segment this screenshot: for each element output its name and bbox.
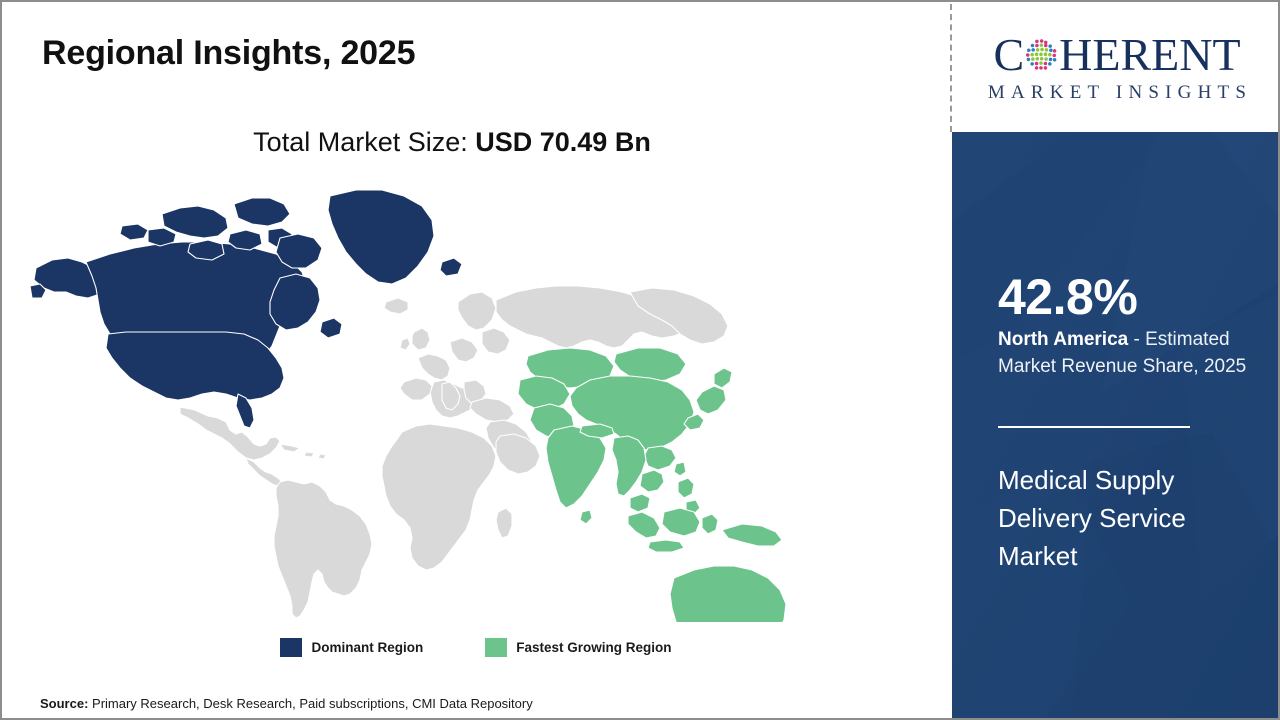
share-description: North America - Estimated Market Revenue… [998, 327, 1266, 381]
legend-swatch-dominant [280, 638, 302, 657]
legend-label-fastest-growing: Fastest Growing Region [516, 640, 671, 655]
stats-content: 42.8% North America - Estimated Market R… [952, 132, 1280, 720]
share-percentage: 42.8% [998, 272, 1137, 322]
dot-globe-icon [1024, 38, 1058, 72]
world-map-container [30, 182, 850, 622]
map-region-asia-pacific [518, 348, 828, 622]
source-note: Source: Primary Research, Desk Research,… [40, 696, 533, 711]
logo-letter-c: C [993, 32, 1024, 78]
logo-word-rest: HERENT [1059, 32, 1240, 78]
market-size-label: Total Market Size: [253, 127, 475, 157]
source-label: Source: [40, 696, 88, 711]
brand-logo: C [952, 2, 1280, 132]
logo-wordmark: C [993, 30, 1240, 80]
share-region-name: North America [998, 329, 1128, 350]
left-content-panel: Regional Insights, 2025 Total Market Siz… [2, 2, 950, 718]
legend-item-fastest-growing: Fastest Growing Region [485, 638, 671, 657]
divider-rule [998, 426, 1190, 428]
page-title: Regional Insights, 2025 [42, 34, 415, 73]
logo-subtitle: MARKET INSIGHTS [982, 82, 1252, 104]
right-info-panel: C [952, 2, 1280, 720]
stats-panel: 42.8% North America - Estimated Market R… [952, 132, 1280, 720]
legend-label-dominant: Dominant Region [311, 640, 423, 655]
map-legend: Dominant Region Fastest Growing Region [2, 638, 950, 657]
source-text: Primary Research, Desk Research, Paid su… [88, 696, 532, 711]
market-size-value: USD 70.49 Bn [475, 127, 651, 157]
total-market-size: Total Market Size: USD 70.49 Bn [2, 127, 902, 158]
world-map-svg [30, 182, 850, 622]
legend-swatch-fastest-growing [485, 638, 507, 657]
legend-item-dominant: Dominant Region [280, 638, 423, 657]
market-name: Medical Supply Delivery Service Market [998, 462, 1258, 576]
regional-insights-slide: Regional Insights, 2025 Total Market Siz… [0, 0, 1280, 720]
